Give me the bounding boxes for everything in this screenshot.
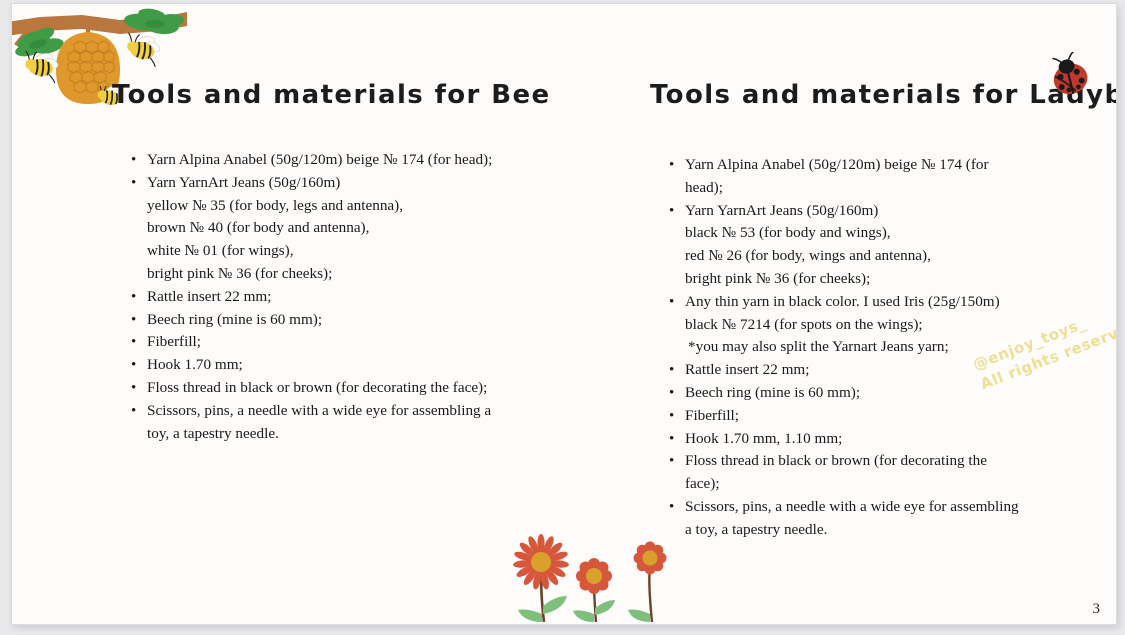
- list-item: Yarn Alpina Anabel (50g/120m) beige № 17…: [663, 154, 1073, 177]
- list-item-continuation: black № 7214 (for spots on the wings);: [663, 314, 1073, 337]
- list-item-continuation: brown № 40 (for body and antenna),: [125, 217, 555, 240]
- materials-list-bee: Yarn Alpina Anabel (50g/120m) beige № 17…: [125, 149, 555, 445]
- list-item: Scissors, pins, a needle with a wide eye…: [125, 400, 555, 423]
- list-item: Hook 1.70 mm, 1.10 mm;: [663, 428, 1073, 451]
- page-title-bee: Tools and materials for Bee: [112, 80, 551, 110]
- list-item-continuation: white № 01 (for wings),: [125, 240, 555, 263]
- list-item: Yarn Alpina Anabel (50g/120m) beige № 17…: [125, 149, 555, 172]
- list-item: Rattle insert 22 mm;: [663, 359, 1073, 382]
- list-item: Beech ring (mine is 60 mm);: [663, 382, 1073, 405]
- list-item-continuation: bright pink № 36 (for cheeks);: [663, 268, 1073, 291]
- slide-canvas: Tools and materials for Bee Tools and ma…: [11, 3, 1117, 625]
- bee-icon: [123, 30, 164, 67]
- flowers-icon: [482, 522, 712, 624]
- list-item-continuation: *you may also split the Yarnart Jeans ya…: [663, 336, 1073, 359]
- list-item: Fiberfill;: [125, 331, 555, 354]
- list-item-continuation: black № 53 (for body and wings),: [663, 222, 1073, 245]
- list-item: Rattle insert 22 mm;: [125, 286, 555, 309]
- list-item-continuation: a toy, a tapestry needle.: [663, 519, 1073, 542]
- materials-list-ladybug: Yarn Alpina Anabel (50g/120m) beige № 17…: [663, 154, 1073, 542]
- list-item: Floss thread in black or brown (for deco…: [663, 450, 1073, 473]
- list-item-continuation: toy, a tapestry needle.: [125, 423, 555, 446]
- list-item: Floss thread in black or brown (for deco…: [125, 377, 555, 400]
- page-number: 3: [1093, 601, 1101, 618]
- list-item: Any thin yarn in black color. I used Iri…: [663, 291, 1073, 314]
- list-item: Hook 1.70 mm;: [125, 354, 555, 377]
- list-item: Fiberfill;: [663, 405, 1073, 428]
- list-item-continuation: bright pink № 36 (for cheeks);: [125, 263, 555, 286]
- list-item-continuation: yellow № 35 (for body, legs and antenna)…: [125, 195, 555, 218]
- list-item: Yarn YarnArt Jeans (50g/160m): [663, 200, 1073, 223]
- list-item-continuation: red № 26 (for body, wings and antenna),: [663, 245, 1073, 268]
- list-item-continuation: face);: [663, 473, 1073, 496]
- ladybug-icon: [1042, 52, 1098, 102]
- list-item: Beech ring (mine is 60 mm);: [125, 309, 555, 332]
- list-item: Yarn YarnArt Jeans (50g/160m): [125, 172, 555, 195]
- list-item-continuation: head);: [663, 177, 1073, 200]
- list-item: Scissors, pins, a needle with a wide eye…: [663, 496, 1073, 519]
